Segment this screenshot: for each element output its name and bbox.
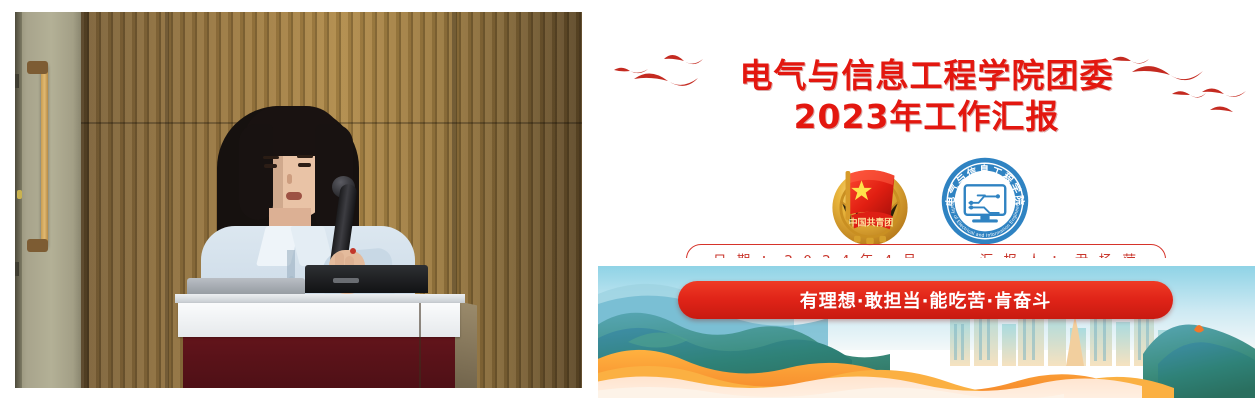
door-frame-edge (15, 12, 22, 388)
poster-title-line1: 电气与信息工程学院团委 (598, 56, 1255, 96)
door-hinge (15, 74, 19, 88)
podium-banner: 昆明理工大学 津桥学院 Oxbridge College, Kunming Un… (178, 303, 460, 337)
podium-top (175, 294, 465, 303)
laptop (305, 265, 428, 293)
college-emblem-icon: 电气与信息工程学院 Faculty of Electrical and Info… (939, 155, 1031, 247)
door-lock (17, 190, 22, 199)
slogan-text: 有理想·敢担当·能吃苦·肯奋斗 (800, 287, 1052, 313)
eyebrow-left (263, 156, 279, 159)
screenshot-root: 昆明理工大学 津桥学院 Oxbridge College, Kunming Un… (0, 0, 1255, 401)
poster-title: 电气与信息工程学院团委 2023年工作汇报 (598, 56, 1255, 138)
podium-cable (419, 303, 421, 388)
hair-side-left (239, 124, 273, 220)
emblem-row: 中国共青团 电气与信息工程学院 Faculty of Electrical an… (598, 155, 1255, 249)
eye-right (298, 163, 311, 167)
nose (287, 174, 292, 184)
report-cover-poster: 电气与信息工程学院团委 2023年工作汇报 (598, 0, 1255, 401)
door-hinge (15, 262, 19, 276)
mouth (286, 192, 302, 200)
laptop-logo (333, 278, 359, 283)
league-emblem-text: 中国共青团 (848, 217, 893, 229)
microphone-indicator (350, 248, 356, 254)
slogan-banner: 有理想·敢担当·能吃苦·肯奋斗 (678, 281, 1173, 319)
door-handle (41, 64, 48, 249)
landscape-illustration (598, 258, 1255, 401)
eye-left (264, 164, 277, 168)
poster-title-line2: 2023年工作汇报 (598, 96, 1255, 138)
podium-body (183, 337, 455, 388)
youth-league-emblem-icon: 中国共青团 (823, 155, 917, 249)
landscape-svg (598, 258, 1255, 401)
wall-panel-divider (81, 12, 89, 388)
door (15, 12, 81, 388)
eyebrow-right (297, 155, 313, 158)
event-photo: 昆明理工大学 津桥学院 Oxbridge College, Kunming Un… (15, 12, 582, 388)
